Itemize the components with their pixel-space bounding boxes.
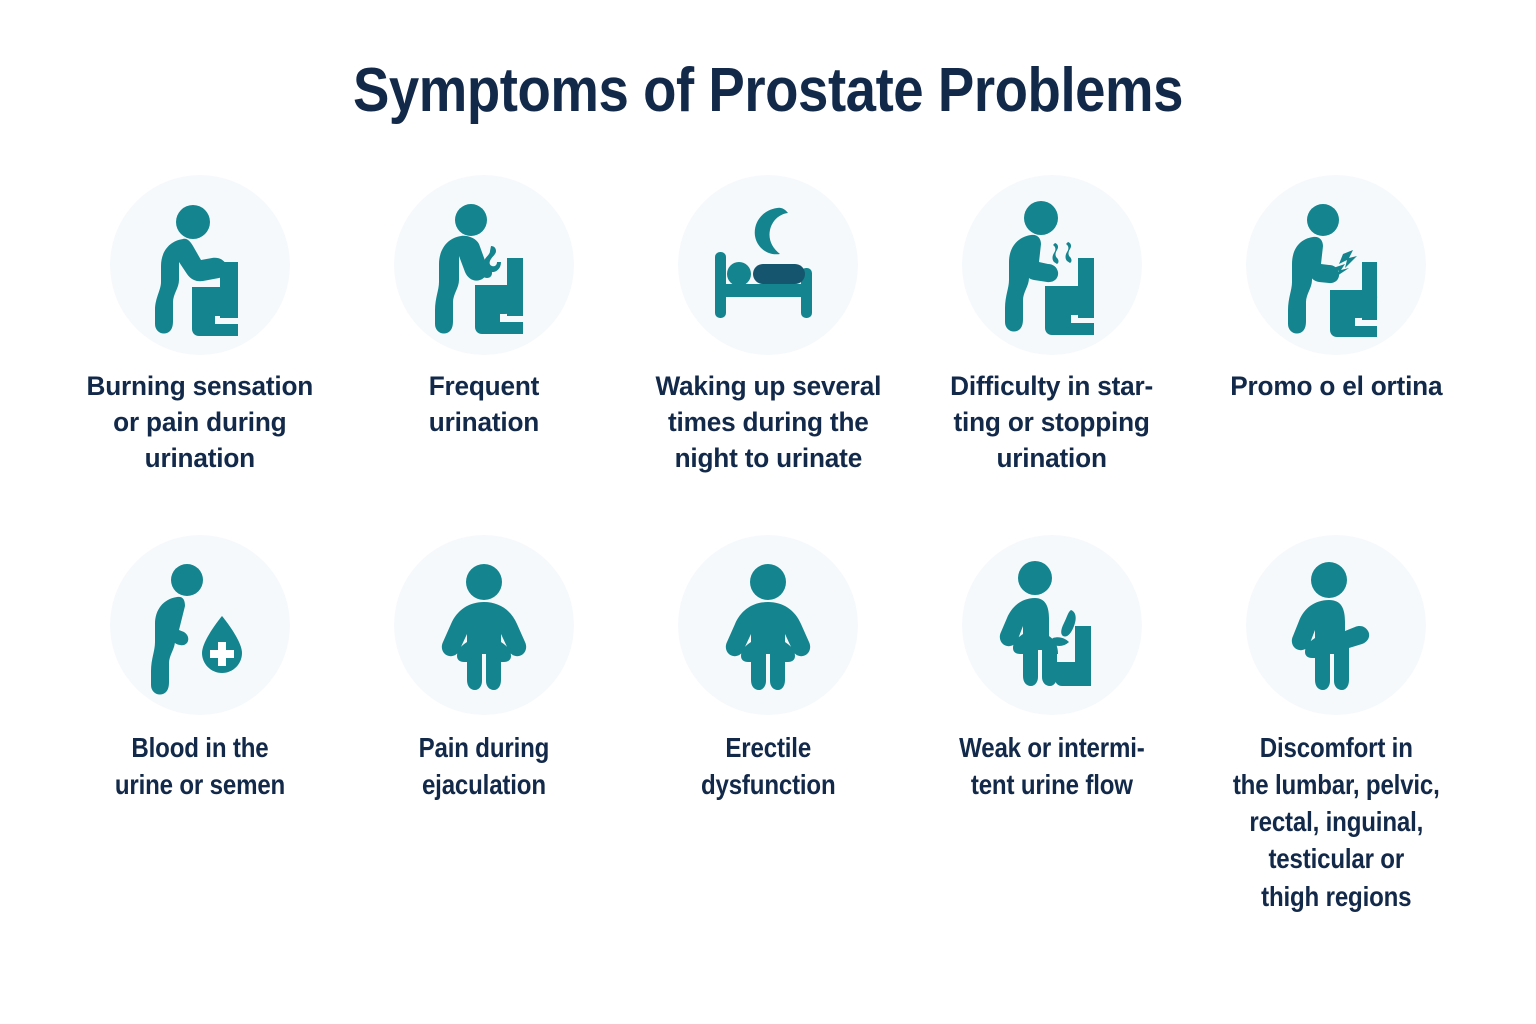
caption-line: Waking up several [655, 369, 881, 405]
icon-disc [394, 175, 574, 355]
icon-disc [962, 175, 1142, 355]
standing-person-hands-on-hips-icon [693, 550, 843, 700]
symptom-card-difficulty-starting-stopping[interactable]: Difficulty in star- ting or stopping uri… [912, 175, 1192, 477]
caption-line: ting or stopping [951, 405, 1154, 441]
page-title: Symptoms of Prostate Problems [92, 0, 1444, 123]
person-at-toilet-with-pain-waves-icon [977, 190, 1127, 340]
caption-line: Blood in the [115, 729, 285, 766]
symptom-caption: Blood in the urine or semen [115, 729, 285, 803]
symptom-card-discomfort-regions[interactable]: Discomfort in the lumbar, pelvic, rectal… [1196, 535, 1476, 915]
person-at-toilet-with-zigzag-icon [1261, 190, 1411, 340]
symptom-card-night-urination[interactable]: Waking up several times during the night… [628, 175, 908, 477]
icon-disc [678, 535, 858, 715]
caption-line: Discomfort in [1233, 729, 1440, 766]
icon-disc [1246, 535, 1426, 715]
icon-disc [1246, 175, 1426, 355]
caption-line: tent urine flow [959, 766, 1144, 803]
symptom-caption: Promo o el ortina [1230, 369, 1442, 405]
caption-line: rectal, inguinal, [1233, 803, 1440, 840]
caption-line: urination [429, 405, 539, 441]
symptom-card-pain-ejaculation[interactable]: Pain during ejaculation [344, 535, 624, 803]
caption-line: ejaculation [419, 766, 550, 803]
symptom-caption: Erectile dysfunction [701, 729, 836, 803]
caption-line: dysfunction [701, 766, 836, 803]
person-at-urinal-weak-flow-icon [977, 550, 1127, 700]
icon-disc [678, 175, 858, 355]
symptom-card-erectile-dysfunction[interactable]: Erectile dysfunction [628, 535, 908, 803]
bed-with-sleeping-person-and-moon-icon [693, 190, 843, 340]
standing-person-hands-on-hips-icon [409, 550, 559, 700]
symptom-caption: Weak or intermi- tent urine flow [959, 729, 1144, 803]
person-bent-over-toilet-urine-stream-icon [409, 190, 559, 340]
symptom-card-burning-sensation[interactable]: Burning sensation or pain during urinati… [60, 175, 340, 477]
person-bent-over-toilet-icon [125, 190, 275, 340]
symptom-caption: Burning sensation or pain during urinati… [87, 369, 314, 477]
caption-line: Pain during [419, 729, 550, 766]
symptom-card-frequent-urination[interactable]: Frequent urination [344, 175, 624, 441]
caption-line: Erectile [701, 729, 836, 766]
icon-disc [110, 175, 290, 355]
caption-line: testicular or [1233, 840, 1440, 877]
caption-line: or pain during [87, 405, 314, 441]
caption-line: Burning sensation [87, 369, 314, 405]
symptom-card-promo-o-el-ortina[interactable]: Promo o el ortina [1196, 175, 1476, 405]
caption-line: Frequent [429, 369, 539, 405]
caption-line: Promo o el ortina [1230, 369, 1442, 405]
symptom-caption: Pain during ejaculation [419, 729, 550, 803]
caption-line: urination [951, 441, 1154, 477]
symptom-card-weak-urine-flow[interactable]: Weak or intermi- tent urine flow [912, 535, 1192, 803]
symptom-grid: Burning sensation or pain during urinati… [60, 175, 1476, 915]
symptom-caption: Difficulty in star- ting or stopping uri… [951, 369, 1154, 477]
caption-line: urine or semen [115, 766, 285, 803]
icon-disc [962, 535, 1142, 715]
caption-line: Weak or intermi- [959, 729, 1144, 766]
icon-disc [394, 535, 574, 715]
person-bent-with-blood-drop-icon [125, 550, 275, 700]
caption-line: urination [87, 441, 314, 477]
symptom-card-blood-in-urine[interactable]: Blood in the urine or semen [60, 535, 340, 803]
caption-line: times during the [655, 405, 881, 441]
caption-line: Difficulty in star- [951, 369, 1154, 405]
symptom-caption: Discomfort in the lumbar, pelvic, rectal… [1233, 729, 1440, 915]
top-row: Burning sensation or pain during urinati… [60, 175, 1476, 477]
caption-line: thigh regions [1233, 878, 1440, 915]
symptom-caption: Frequent urination [429, 369, 539, 441]
caption-line: the lumbar, pelvic, [1233, 766, 1440, 803]
bottom-row: Blood in the urine or semen [60, 535, 1476, 915]
standing-person-arm-out-icon [1261, 550, 1411, 700]
infographic-page: Symptoms of Prostate Problems [0, 0, 1536, 1024]
symptom-caption: Waking up several times during the night… [655, 369, 881, 477]
caption-line: night to urinate [655, 441, 881, 477]
icon-disc [110, 535, 290, 715]
